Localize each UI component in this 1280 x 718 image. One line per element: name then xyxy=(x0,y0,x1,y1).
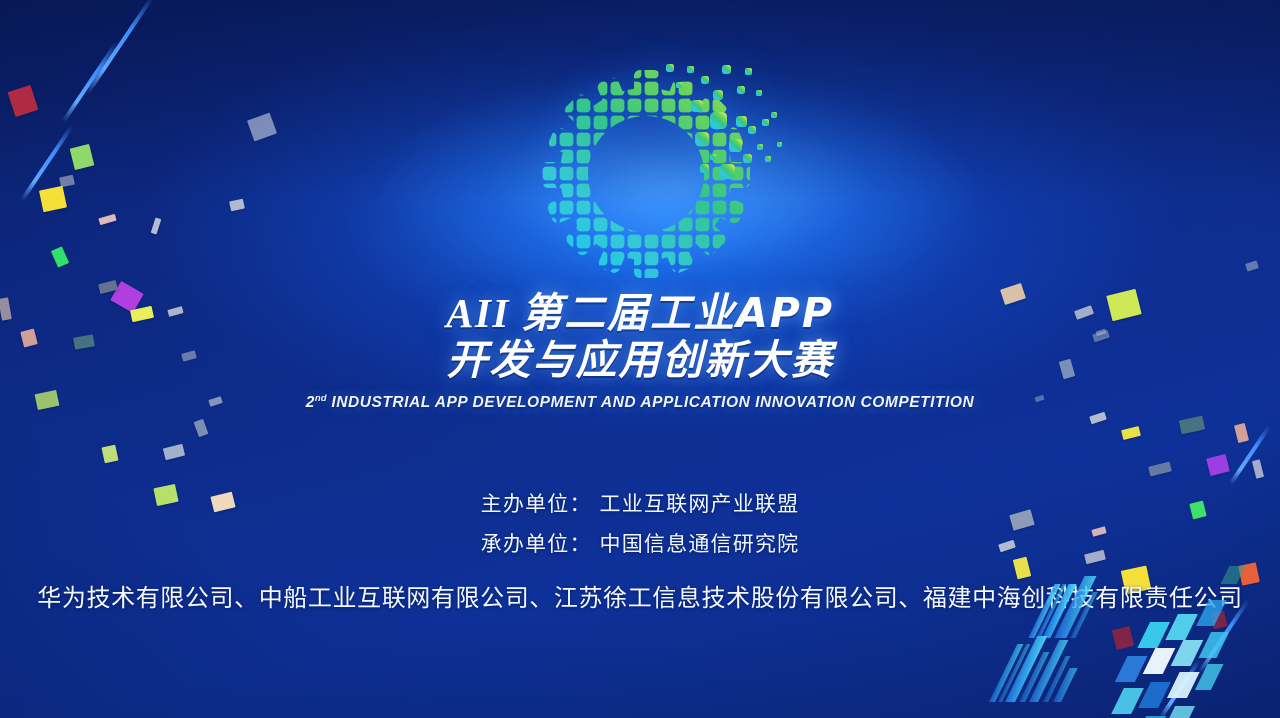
subtitle-ordinal: 2 xyxy=(306,394,315,411)
confetti-piece xyxy=(59,175,75,188)
light-streak xyxy=(62,41,119,123)
confetti-piece xyxy=(1179,416,1205,435)
confetti-piece xyxy=(194,419,209,437)
title-line-1: AII 第二届工业APP xyxy=(0,292,1280,335)
confetti-piece xyxy=(163,444,185,460)
confetti-piece xyxy=(39,186,67,213)
confetti-piece xyxy=(229,199,245,212)
title-line-2: 开发与应用创新大赛 xyxy=(0,339,1280,382)
confetti-piece xyxy=(1234,423,1249,443)
title-block: AII 第二届工业APP 开发与应用创新大赛 2nd INDUSTRIAL AP… xyxy=(0,292,1280,412)
confetti-piece xyxy=(1121,426,1141,440)
confetti-piece xyxy=(1089,412,1107,425)
confetti-piece xyxy=(8,85,39,117)
confetti-piece xyxy=(1252,459,1264,478)
pixel-gear-logo xyxy=(524,46,794,278)
confetti-piece xyxy=(1148,461,1172,476)
diagonal-stripe-motif xyxy=(986,536,1280,718)
light-streak xyxy=(85,0,154,95)
title-line-2-cn: 开发与应用创新大赛 xyxy=(447,336,834,384)
title-subtitle-en: 2nd INDUSTRIAL APP DEVELOPMENT AND APPLI… xyxy=(0,393,1280,412)
confetti-piece xyxy=(1245,260,1259,271)
poster-canvas: AII 第二届工业APP 开发与应用创新大赛 2nd INDUSTRIAL AP… xyxy=(0,0,1280,718)
confetti-piece xyxy=(1206,454,1230,476)
host-unit-line: 主办单位： 工业互联网产业联盟 xyxy=(0,494,1280,515)
subtitle-text: INDUSTRIAL APP DEVELOPMENT AND APPLICATI… xyxy=(331,394,974,411)
confetti-piece xyxy=(98,214,116,225)
title-prefix-aii: AII xyxy=(446,290,510,336)
confetti-piece xyxy=(151,217,162,234)
confetti-piece xyxy=(70,144,95,170)
subtitle-ordinal-suffix: nd xyxy=(315,393,327,404)
confetti-piece xyxy=(51,246,69,267)
confetti-piece xyxy=(247,113,277,142)
title-line-1-cn: 第二届工业APP xyxy=(521,289,834,337)
confetti-piece xyxy=(101,445,118,464)
